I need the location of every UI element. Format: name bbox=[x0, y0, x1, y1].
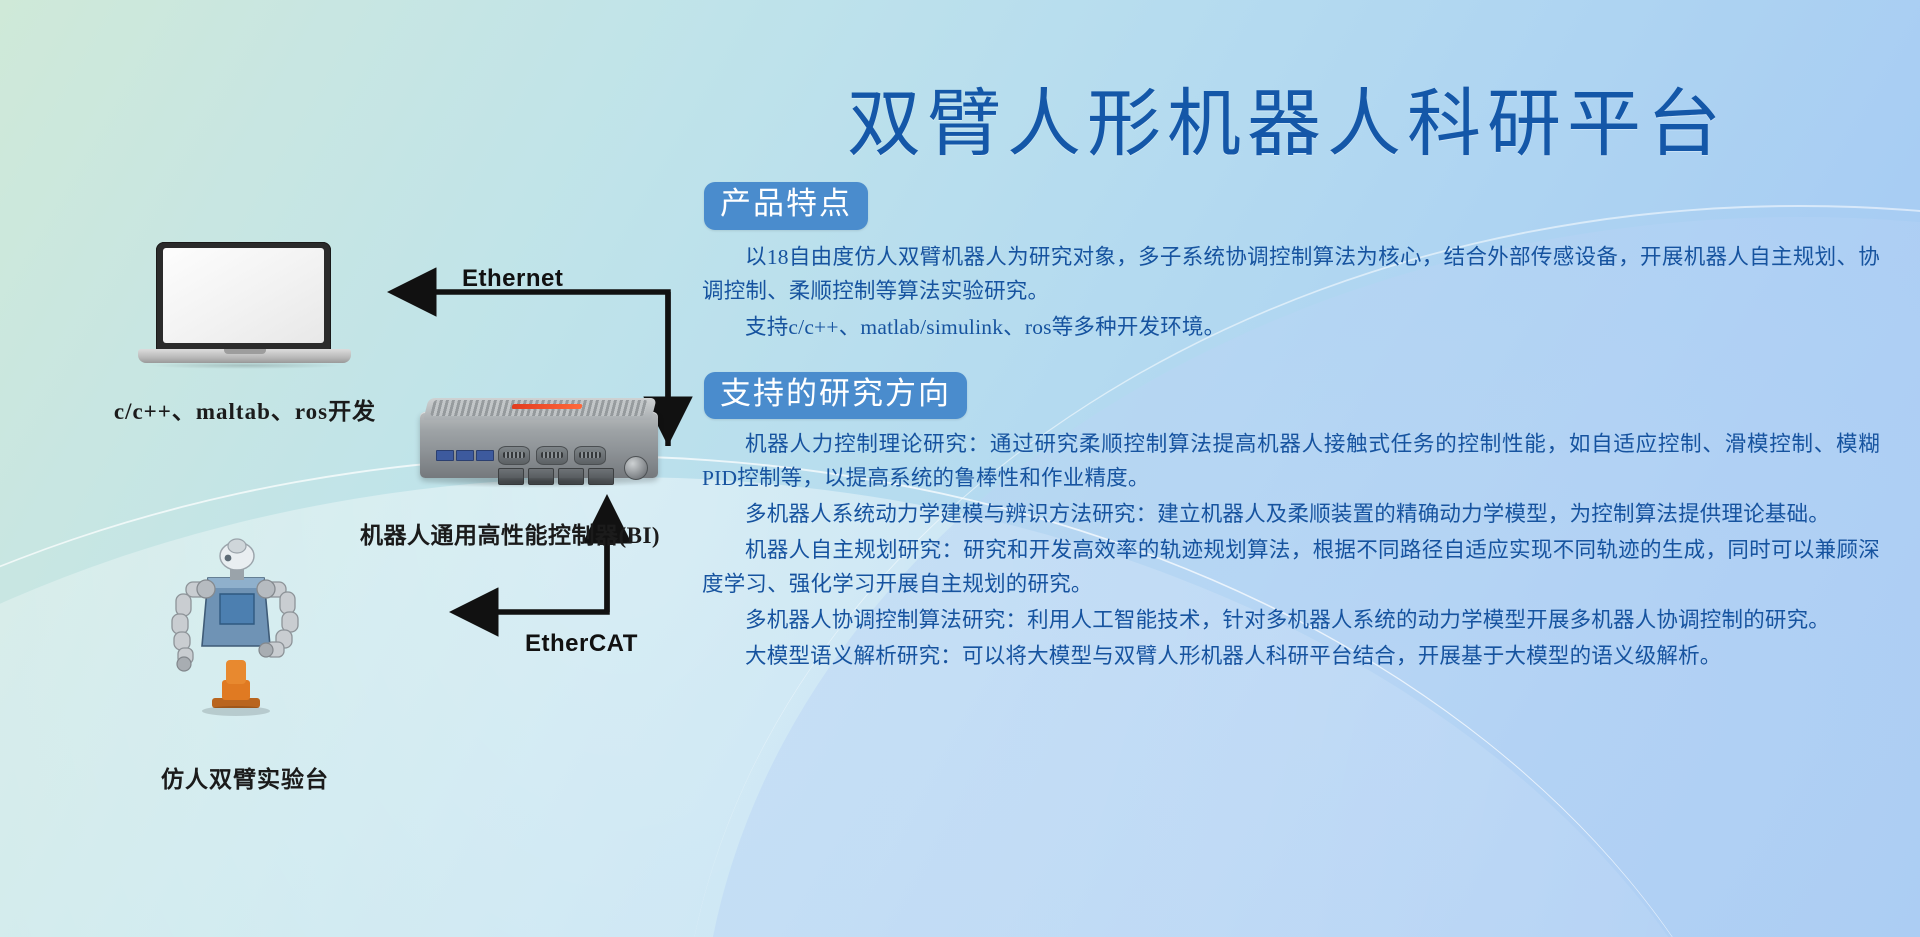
laptop-screen bbox=[156, 242, 331, 350]
page-title: 双臂人形机器人科研平台 bbox=[688, 86, 1886, 164]
controller-serial-port bbox=[536, 446, 568, 465]
laptop-illustration bbox=[138, 242, 351, 370]
controller-power-connector bbox=[624, 456, 648, 480]
features-badge: 产品特点 bbox=[704, 182, 868, 229]
controller-serial-port bbox=[574, 446, 606, 465]
features-paragraph: 以18自由度仿人双臂机器人为研究对象，多子系统协调控制算法为核心，结合外部传感设… bbox=[688, 240, 1886, 308]
ethercat-link-label: EtherCAT bbox=[525, 630, 638, 658]
features-paragraph: 支持c/c++、matlab/simulink、ros等多种开发环境。 bbox=[688, 310, 1886, 344]
direction-paragraph: 机器人力控制理论研究：通过研究柔顺控制算法提高机器人接触式任务的控制性能，如自适… bbox=[688, 427, 1886, 495]
direction-paragraph: 机器人自主规划研究：研究和开发高效率的轨迹规划算法，根据不同路径自适应实现不同轨… bbox=[688, 533, 1886, 601]
direction-paragraph: 多机器人系统动力学建模与辨识方法研究：建立机器人及柔顺装置的精确动力学模型，为控… bbox=[688, 497, 1886, 531]
laptop-caption: c/c++、maltab、ros开发 bbox=[60, 392, 430, 426]
controller-red-stripe bbox=[511, 404, 582, 409]
robot-illustration bbox=[150, 520, 325, 720]
laptop-display bbox=[163, 248, 324, 343]
controller-serial-port bbox=[498, 446, 530, 465]
controller-usb-port bbox=[476, 450, 494, 461]
controller-usb-port bbox=[456, 450, 474, 461]
poster-canvas: c/c++、maltab、ros开发 机器人通用高性能控制器(BI) bbox=[0, 0, 1920, 937]
directions-badge: 支持的研究方向 bbox=[704, 372, 967, 419]
features-section-header: 产品特点 bbox=[704, 182, 1886, 229]
directions-body: 机器人力控制理论研究：通过研究柔顺控制算法提高机器人接触式任务的控制性能，如自适… bbox=[688, 427, 1886, 673]
controller-usb-port bbox=[436, 450, 454, 461]
direction-paragraph: 多机器人协调控制算法研究：利用人工智能技术，针对多机器人系统的动力学模型开展多机… bbox=[688, 603, 1886, 637]
controller-body bbox=[420, 412, 658, 478]
controller-illustration bbox=[420, 398, 658, 492]
features-body: 以18自由度仿人双臂机器人为研究对象，多子系统协调控制算法为核心，结合外部传感设… bbox=[688, 240, 1886, 344]
controller-caption: 机器人通用高性能控制器(BI) bbox=[330, 516, 690, 550]
system-diagram: c/c++、maltab、ros开发 机器人通用高性能控制器(BI) bbox=[0, 0, 690, 937]
content-panel: 双臂人形机器人科研平台 产品特点 以18自由度仿人双臂机器人为研究对象，多子系统… bbox=[688, 86, 1886, 673]
directions-section-header: 支持的研究方向 bbox=[704, 372, 1886, 419]
direction-paragraph: 大模型语义解析研究：可以将大模型与双臂人形机器人科研平台结合，开展基于大模型的语… bbox=[688, 639, 1886, 673]
laptop-trackpad-notch bbox=[224, 349, 266, 354]
laptop-shadow bbox=[148, 362, 343, 369]
controller-shadow bbox=[426, 478, 652, 488]
robot-caption: 仿人双臂实验台 bbox=[60, 760, 430, 794]
ethernet-link-label: Ethernet bbox=[462, 265, 563, 293]
